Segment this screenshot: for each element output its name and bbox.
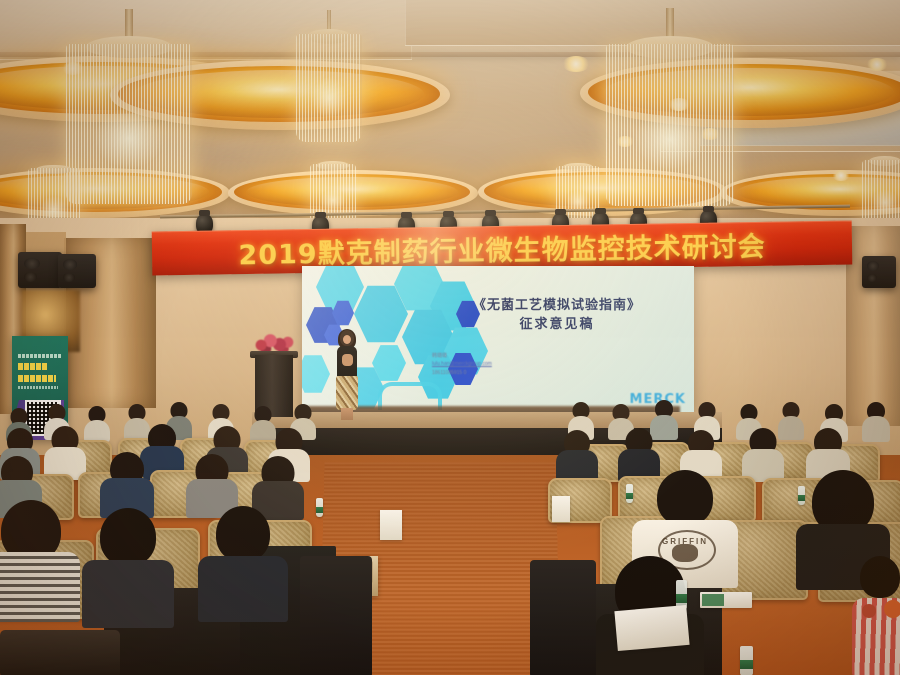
- attendee-body: [82, 560, 174, 628]
- chandelier-icon: [606, 44, 734, 206]
- loudspeaker-icon: [18, 252, 62, 288]
- ceiling: [0, 0, 900, 232]
- fruit: [884, 600, 900, 618]
- attendee: [84, 406, 110, 442]
- attendee-body: [862, 416, 890, 442]
- hexagon-graphic: [302, 354, 330, 394]
- poster-line-main: [18, 363, 48, 370]
- poster-headline: [18, 354, 62, 358]
- attendee: [198, 506, 288, 622]
- attendee: [556, 430, 598, 482]
- attendee-head: [860, 556, 900, 598]
- attendee-head: [216, 506, 270, 562]
- attendee-head: [100, 508, 156, 566]
- event-banner-text: 2019默克制药行业微生物监控技术研讨会: [238, 224, 766, 271]
- name-card: [552, 496, 570, 522]
- presenter-legs: [341, 408, 353, 420]
- contact-name: 韩璐璐: [432, 352, 612, 360]
- presenter: [330, 330, 364, 420]
- water-bottle: [316, 498, 323, 517]
- presenter-face: [343, 335, 351, 344]
- fruit: [862, 604, 876, 618]
- slide-subtitle: 征求意见稿: [432, 313, 682, 332]
- attendee: [0, 500, 80, 622]
- poster-line-sub: [18, 375, 56, 382]
- name-card: [380, 510, 402, 540]
- attendee-body: [84, 420, 110, 442]
- griffin-shirt-text: GRIFFIN: [650, 537, 720, 546]
- chair-foreground: [300, 556, 372, 675]
- attendee-head: [657, 470, 713, 526]
- attendee: [82, 508, 174, 628]
- chair-foreground: [530, 560, 596, 675]
- slide-title: 《无菌工艺模拟试验指南》: [432, 294, 682, 313]
- chair-foreground: [0, 630, 120, 675]
- chandelier-icon: [66, 44, 192, 204]
- attendee: [862, 402, 890, 442]
- contact-phone: 18611085915 0: [432, 369, 612, 377]
- presenter-skirt: [336, 376, 358, 410]
- loudspeaker-icon: [862, 256, 896, 288]
- attendee-body: [198, 556, 288, 622]
- contact-email: lulu.han@merckgroup.com: [432, 360, 612, 368]
- notepad-accent: [702, 594, 724, 606]
- loudspeaker-icon: [58, 254, 96, 288]
- conference-hall-photo: 2019默克制药行业微生物监控技术研讨会 《无菌工艺模拟试验指南》 征求意见稿 …: [0, 0, 900, 675]
- water-bottle: [740, 646, 753, 675]
- downlight: [832, 170, 850, 181]
- chandelier-icon: [296, 34, 362, 142]
- poster-line-detail: [18, 386, 58, 389]
- notepad: [614, 605, 689, 651]
- downlight: [866, 58, 888, 71]
- attendee-body: [0, 552, 80, 622]
- slide-contact-block: 韩璐璐 lulu.han@merckgroup.com 18611085915 …: [432, 352, 612, 377]
- attendee: [742, 428, 784, 482]
- hexagon-graphic: [332, 300, 354, 326]
- presenter-arms: [342, 354, 353, 366]
- downlight: [562, 56, 590, 72]
